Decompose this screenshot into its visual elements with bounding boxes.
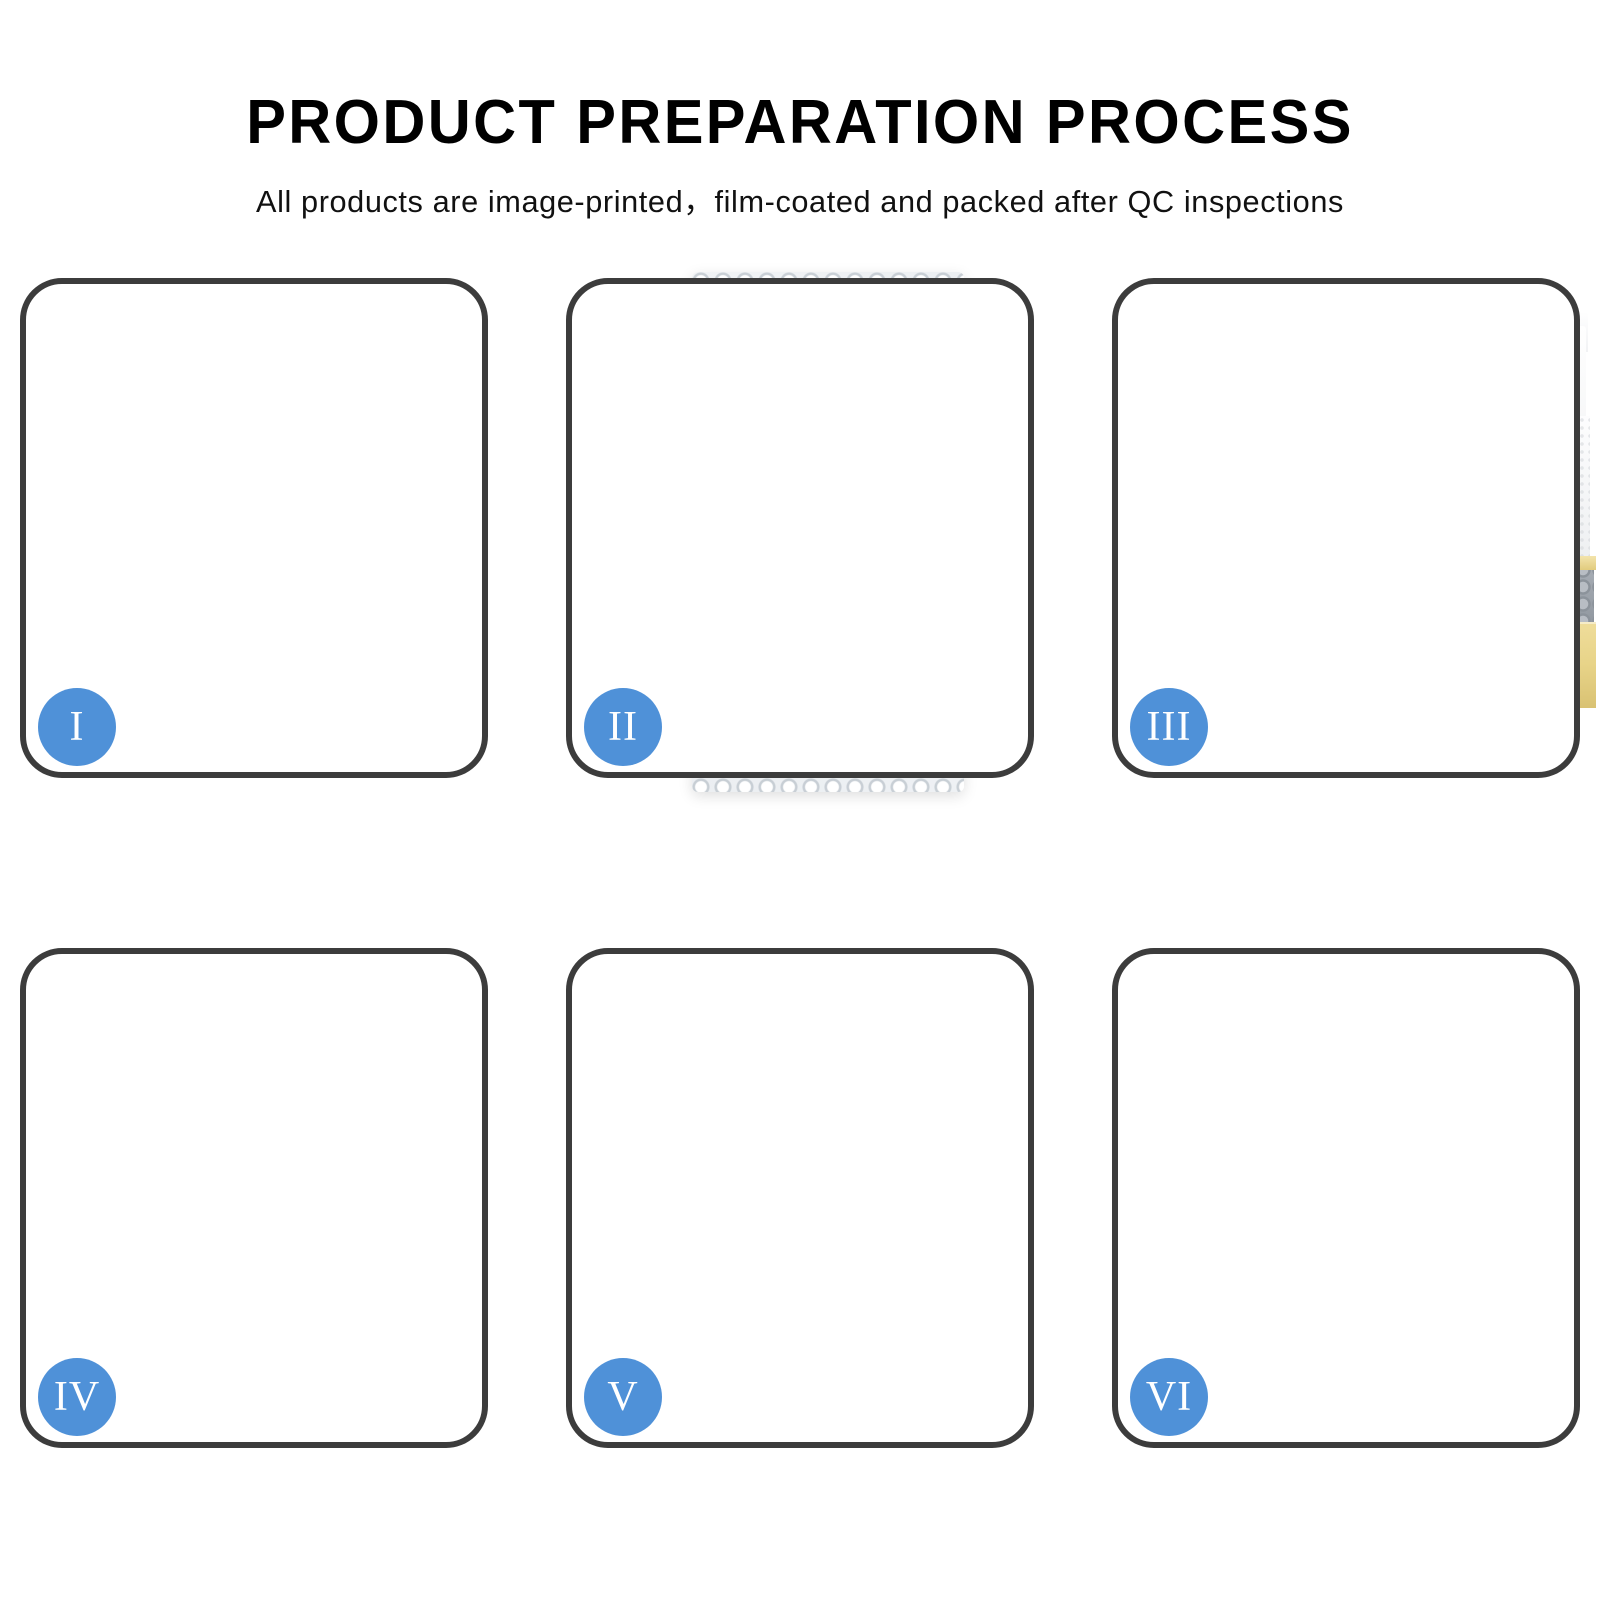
box-checklist: LCD Digitizer Touch Panel Front Glass Ba…	[346, 1108, 419, 1209]
connector-part	[154, 662, 198, 672]
checkbox-icon	[351, 1155, 358, 1162]
checkbox-icon	[353, 1169, 360, 1176]
qc-sticker	[738, 312, 760, 328]
process-step-3: III	[1112, 278, 1580, 778]
step-badge-1: I	[38, 688, 116, 766]
process-step-4: Mobile Phone Spare Parts LCD Digitizer T…	[20, 948, 488, 1448]
white-foam-sheet	[1170, 416, 1590, 574]
process-step-5: V	[566, 948, 1034, 1448]
gold-boxes-inside	[706, 1154, 934, 1246]
battery-part	[282, 665, 396, 763]
photo-white-corner	[420, 284, 482, 340]
gold-box-column	[764, 1154, 790, 1246]
gold-box-column	[822, 1154, 848, 1246]
step-badge-2: II	[584, 688, 662, 766]
tempered-glass-protector	[198, 410, 306, 618]
checkbox-icon	[347, 1127, 354, 1134]
page-title: PRODUCT PREPARATION PROCESS	[32, 92, 1568, 154]
checkbox-icon	[231, 1066, 238, 1074]
flex-cable-part	[268, 716, 320, 738]
step-badge-4: IV	[38, 1358, 116, 1436]
gold-box-column	[850, 1154, 876, 1246]
foam-lid	[713, 1001, 955, 1147]
crack-line	[26, 661, 95, 669]
flex-cable-part	[262, 656, 306, 678]
earpiece-slot	[819, 338, 835, 345]
step-badge-3: III	[1130, 688, 1208, 766]
small-part	[228, 742, 260, 754]
vibrator-part	[272, 754, 290, 772]
process-step-grid: 08:08	[0, 278, 1600, 1458]
screw-part	[450, 736, 460, 758]
process-step-2: II	[566, 278, 1034, 778]
gold-box-column	[879, 1154, 905, 1246]
camera-module-part	[222, 766, 256, 772]
process-step-1: 08:08	[20, 278, 488, 778]
screen-notch	[226, 421, 278, 432]
lcd-assembly-part	[718, 334, 936, 764]
checkbox-icon	[233, 1078, 240, 1086]
header: PRODUCT PREPARATION PROCESS All products…	[0, 0, 1600, 217]
carton-front-panel	[684, 1260, 956, 1404]
bubble-wrap-bag	[692, 272, 964, 792]
tape-seal-patch	[1267, 1311, 1303, 1347]
flex-cable-part	[346, 635, 400, 647]
checkbox-icon	[349, 1141, 356, 1148]
gold-box-column	[793, 1154, 819, 1246]
camera-lens-part	[390, 646, 418, 674]
speaker-part	[214, 652, 264, 702]
checkbox-icon	[239, 1114, 246, 1122]
step-badge-5: V	[584, 1358, 662, 1436]
tape-seal-patch	[1263, 1175, 1300, 1217]
box-lip	[1166, 556, 1596, 570]
step-badge-6: VI	[1130, 1358, 1208, 1436]
page-subtitle: All products are image-printed，film-coat…	[8, 186, 1592, 217]
ic-chip-part	[818, 512, 836, 532]
crack-line	[94, 579, 102, 669]
product-preparation-infographic: PRODUCT PREPARATION PROCESS All products…	[0, 0, 1600, 1600]
checkbox-icon	[235, 1090, 242, 1098]
box-stack: Mobile Phone Spare Parts LCD Digitizer T…	[34, 998, 482, 1428]
gold-box-column	[908, 1154, 934, 1246]
box-phone-image	[288, 1135, 344, 1210]
checkbox-icon	[355, 1183, 362, 1190]
box-phone-image	[234, 1149, 288, 1222]
gold-box-column	[735, 1154, 761, 1246]
process-step-6: VI	[1112, 948, 1580, 1448]
checkbox-icon	[237, 1102, 244, 1110]
checkbox-icon	[357, 1197, 364, 1204]
sim-tray-part	[174, 764, 190, 772]
flex-cable-part	[823, 452, 839, 682]
box-front-panel	[1166, 622, 1596, 708]
gold-box-column	[706, 1154, 732, 1246]
